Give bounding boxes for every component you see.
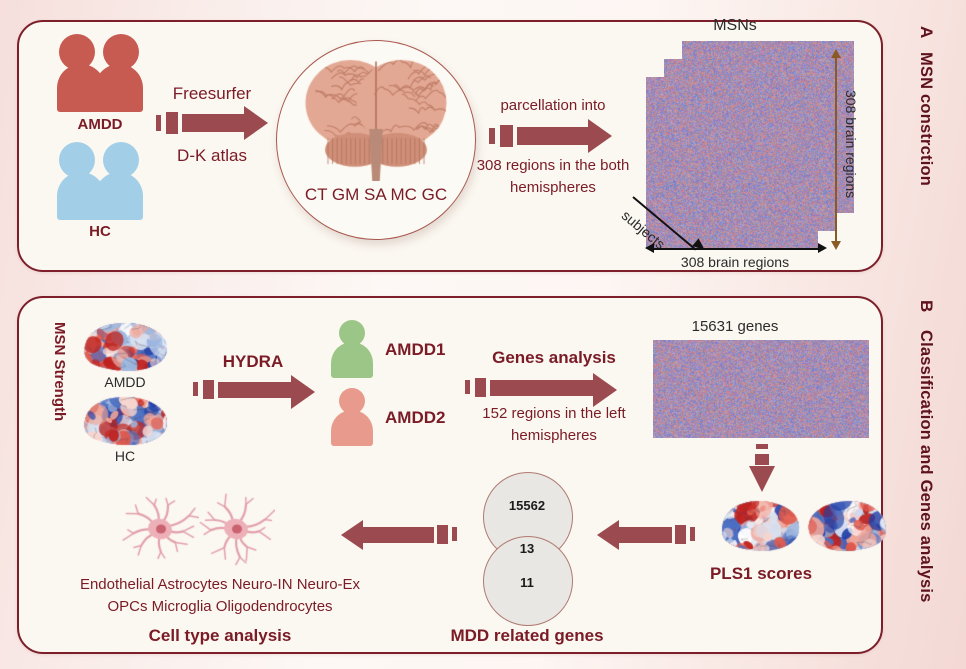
panel-a-letter: A — [916, 26, 936, 39]
venn-caption: MDD related genes — [450, 626, 603, 646]
cell-analysis-caption: Cell type analysis — [149, 626, 292, 646]
label-pls1-scores: PLS1 scores — [710, 564, 812, 584]
venn-value-bottom: 11 — [520, 575, 534, 590]
panel-b-letter: B — [916, 300, 936, 313]
panel-b-side-title: Classification and Genes analysis — [916, 330, 935, 603]
panel-a: AMDD HC Freesurfer D-K atlas CT GM SA MC… — [17, 20, 883, 272]
venn-value-top: 15562 — [509, 498, 545, 513]
cell-types-line-1: Endothelial Astrocytes Neuro-IN Neuro-Ex — [80, 576, 360, 593]
brain-surface-pls-right-icon — [805, 498, 891, 556]
msn-matrix-layer — [646, 77, 818, 249]
arrow1-label-above: Freesurfer — [173, 84, 251, 104]
brain-surface-pls-left-icon — [717, 498, 803, 556]
people-group-amdd — [57, 34, 143, 112]
person-body-icon — [331, 410, 373, 446]
genes-arrow-sub-2: hemispheres — [511, 427, 597, 444]
genes-matrix — [653, 340, 869, 438]
venn-value-overlap: 13 — [520, 541, 534, 556]
cell-types-line-2: OPCs Microglia Oligodendrocytes — [107, 598, 332, 615]
label-surface-hc: HC — [115, 448, 135, 464]
label-surface-amdd: AMDD — [104, 374, 145, 390]
person-amdd1 — [331, 320, 373, 378]
brain-surface-amdd-icon — [79, 320, 171, 376]
arrow1-label-below: D-K atlas — [177, 146, 247, 166]
panel-b: MSN Strength AMDD HC HYDRA AMDD1 AMDD2 G… — [17, 296, 883, 654]
label-hc: HC — [89, 223, 111, 240]
person-body-icon — [95, 64, 143, 112]
label-amdd: AMDD — [78, 116, 123, 133]
hydra-label: HYDRA — [223, 352, 283, 372]
figure-canvas: AMDD HC Freesurfer D-K atlas CT GM SA MC… — [0, 0, 966, 669]
brain-coronal-icon — [301, 51, 451, 181]
person-body-icon — [95, 172, 143, 220]
brain-surface-hc-icon — [79, 394, 171, 450]
genes-matrix-title: 15631 genes — [692, 318, 779, 335]
astrocyte-cell-icon — [121, 490, 199, 568]
axis-label-right: 308 brain regions — [843, 90, 859, 198]
label-amdd1: AMDD1 — [385, 340, 445, 360]
matrix-title: MSNs — [713, 17, 757, 35]
arrow2-label-below-2: hemispheres — [510, 179, 596, 196]
genes-arrow-label: Genes analysis — [492, 348, 616, 368]
arrow2-label-below-1: 308 regions in the both — [477, 157, 630, 174]
label-msn-strength: MSN Strength — [51, 322, 68, 421]
astrocyte-cell-icon — [197, 490, 275, 568]
label-amdd2: AMDD2 — [385, 408, 445, 428]
circle-caption: CT GM SA MC GC — [305, 185, 447, 205]
genes-arrow-sub-1: 152 regions in the left — [482, 405, 625, 422]
brain-circle: CT GM SA MC GC — [276, 40, 476, 240]
person-amdd2 — [331, 388, 373, 446]
person-body-icon — [331, 342, 373, 378]
axis-label-bottom: 308 brain regions — [681, 254, 789, 270]
arrow2-label-above: parcellation into — [500, 97, 605, 114]
panel-a-side-title: MSN constrction — [916, 52, 935, 186]
people-group-hc — [57, 142, 143, 220]
